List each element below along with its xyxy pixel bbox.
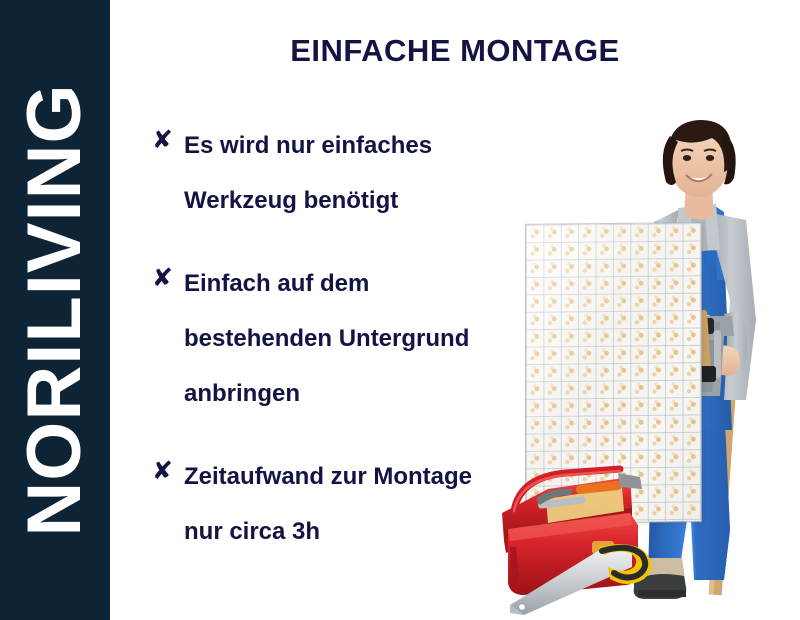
tools-group — [480, 455, 710, 615]
page-title: EINFACHE MONTAGE — [110, 33, 800, 69]
cross-mark-icon: ✘ — [152, 256, 173, 300]
list-item-label: Einfach auf dem bestehenden Untergrund a… — [184, 270, 469, 407]
brand-sidebar: NORILIVING — [0, 0, 110, 620]
brand-name: NORILIVING — [17, 83, 93, 536]
list-item-label: Es wird nur einfaches Werkzeug benötigt — [184, 132, 432, 214]
product-photo — [470, 100, 800, 620]
worker-head — [663, 120, 736, 220]
cross-mark-icon: ✘ — [152, 118, 173, 162]
cross-mark-icon: ✘ — [152, 449, 173, 493]
list-item-label: Zeitaufwand zur Montage nur circa 3h — [184, 463, 472, 545]
poster-canvas: NORILIVING EINFACHE MONTAGE ✘ Es wird nu… — [0, 0, 800, 620]
